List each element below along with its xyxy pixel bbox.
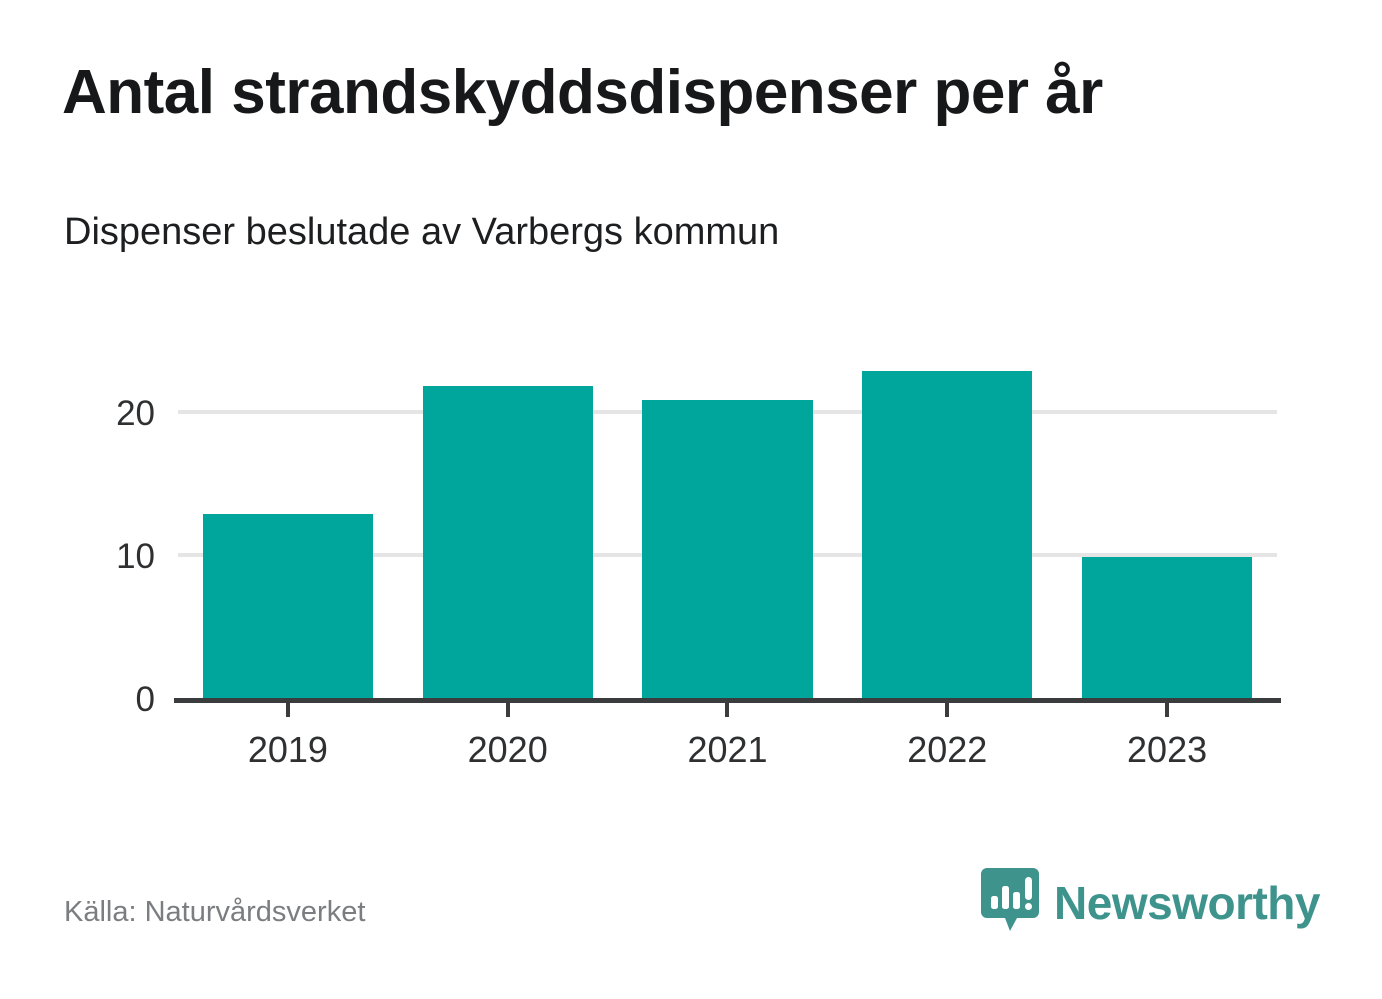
bar-2019[interactable]: [203, 514, 373, 700]
y-axis-tick-label: 10: [15, 537, 155, 577]
source-note: Källa: Naturvårdsverket: [64, 896, 365, 929]
x-axis-tick-label: 2022: [837, 729, 1057, 771]
bar-slot: 2023: [1057, 360, 1277, 700]
bar-slot: 2021: [618, 360, 838, 700]
bar-slot: 2020: [398, 360, 618, 700]
brand-name: Newsworthy: [1054, 880, 1320, 926]
bar-slot: 2019: [178, 360, 398, 700]
bar-2020[interactable]: [423, 386, 593, 700]
x-axis-tick-label: 2023: [1057, 729, 1277, 771]
bar-slot: 2022: [837, 360, 1057, 700]
x-axis-tick: [945, 703, 949, 717]
brand-logo: Newsworthy: [981, 868, 1320, 938]
bar-2023[interactable]: [1082, 557, 1252, 700]
speech-bubble-bar-chart-icon: [981, 868, 1039, 938]
y-axis-tick-label: 0: [15, 680, 155, 720]
chart-title: Antal strandskyddsdispenser per år: [62, 60, 1322, 125]
bar-series: 20192020202120222023: [178, 360, 1277, 700]
x-axis-tick-label: 2021: [618, 729, 838, 771]
plot-area: 01020 20192020202120222023: [178, 360, 1277, 700]
x-axis-tick: [506, 703, 510, 717]
bar-2021[interactable]: [642, 400, 812, 700]
x-axis-tick: [725, 703, 729, 717]
x-axis-tick-label: 2019: [178, 729, 398, 771]
x-axis-line: [174, 698, 1281, 703]
y-axis-tick-label: 20: [15, 394, 155, 434]
x-axis-tick-label: 2020: [398, 729, 618, 771]
bar-2022[interactable]: [862, 371, 1032, 700]
x-axis-tick: [286, 703, 290, 717]
x-axis-tick: [1165, 703, 1169, 717]
chart-subtitle: Dispenser beslutade av Varbergs kommun: [64, 212, 1324, 254]
chart-card: Antal strandskyddsdispenser per år Dispe…: [0, 0, 1382, 999]
